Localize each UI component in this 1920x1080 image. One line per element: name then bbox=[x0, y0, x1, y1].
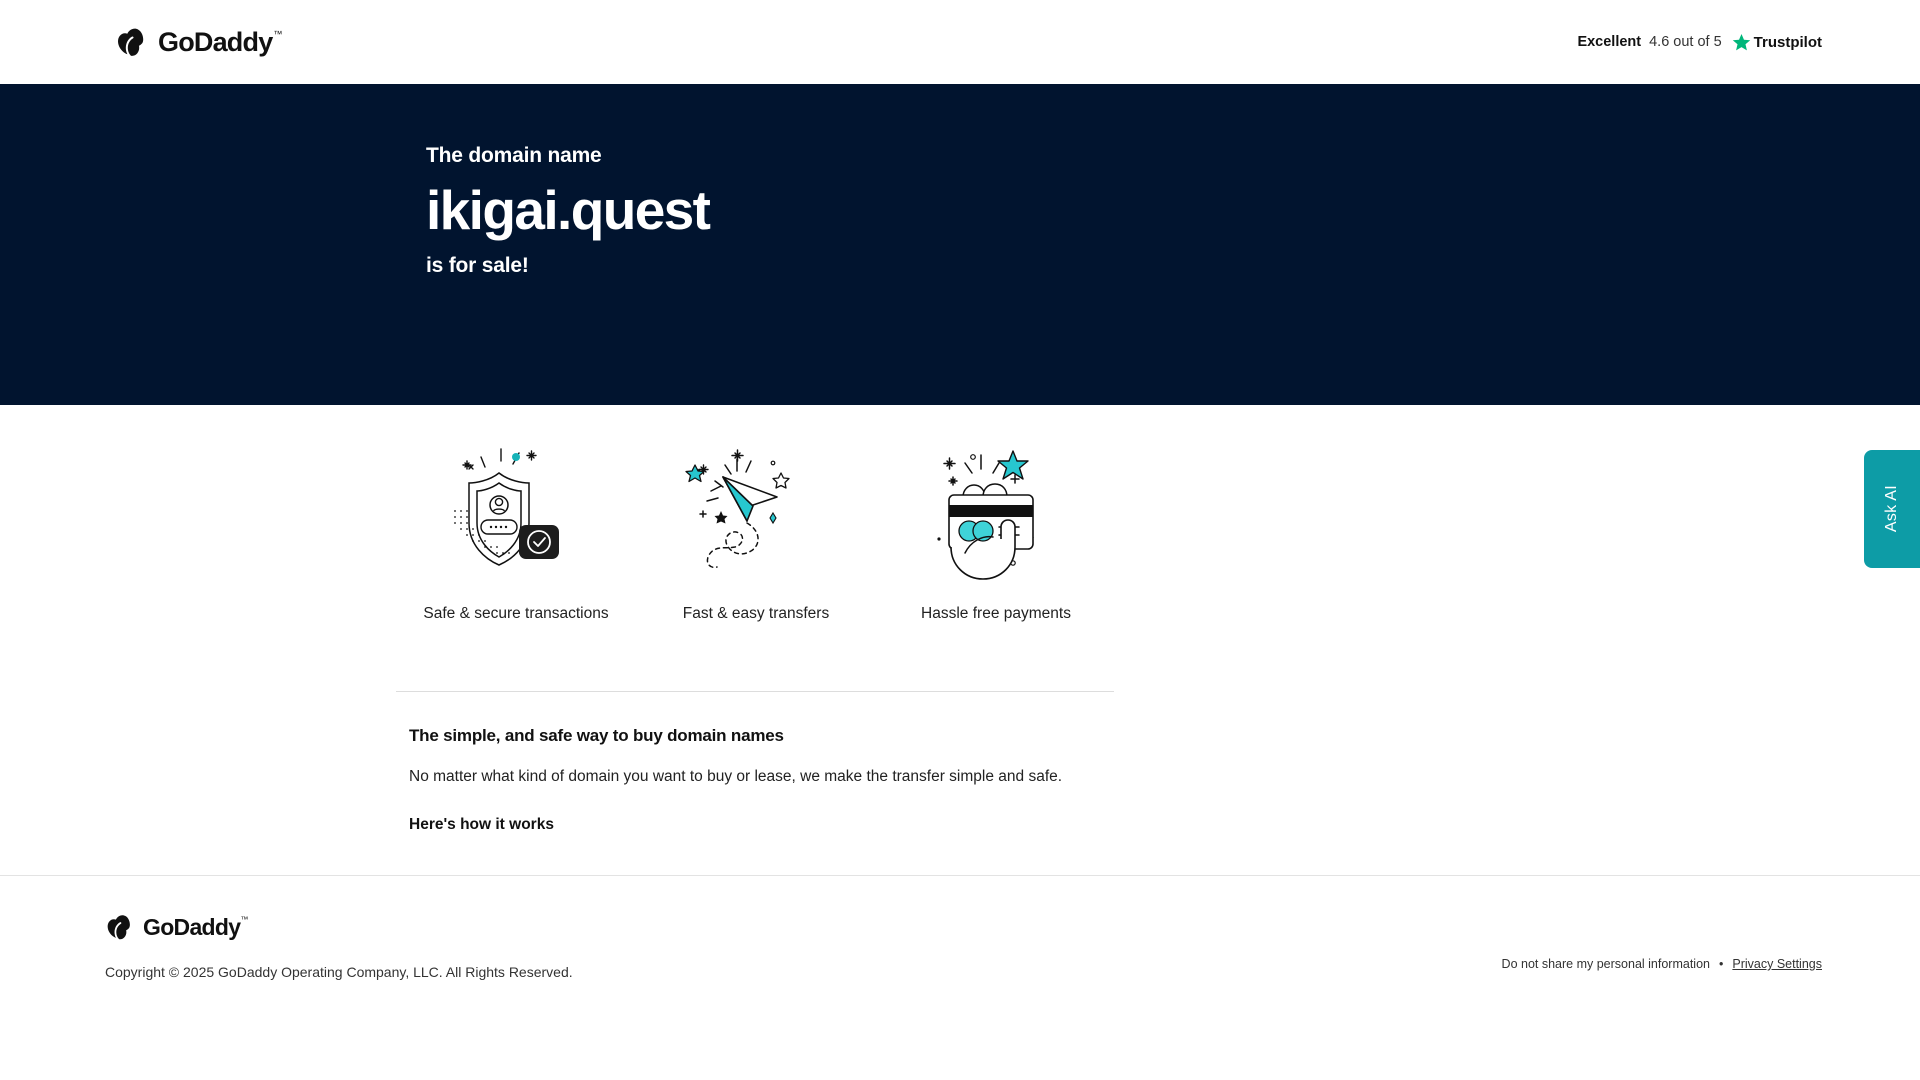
shield-user-verified-icon bbox=[441, 435, 591, 580]
do-not-share-link[interactable]: Do not share my personal information bbox=[1502, 957, 1710, 971]
feature-item: Fast & easy transfers bbox=[636, 435, 876, 623]
page-footer: GoDaddy™ Copyright © 2025 GoDaddy Operat… bbox=[0, 875, 1920, 1080]
footer-godaddy-logo[interactable]: GoDaddy™ bbox=[105, 912, 1822, 942]
privacy-settings-link[interactable]: Privacy Settings bbox=[1732, 957, 1822, 971]
godaddy-wordmark: GoDaddy™ bbox=[158, 29, 281, 56]
trustpilot-star-icon bbox=[1732, 33, 1751, 52]
copy-body: No matter what kind of domain you want t… bbox=[409, 768, 1920, 786]
trustpilot-brand: Trustpilot bbox=[1754, 34, 1822, 51]
feature-item: Hassle free payments bbox=[876, 435, 1116, 623]
footer-links: Do not share my personal information • P… bbox=[1502, 957, 1822, 971]
info-copy-block: The simple, and safe way to buy domain n… bbox=[0, 692, 1920, 834]
hero-banner: The domain name ikigai.quest is for sale… bbox=[0, 84, 1920, 405]
copy-heading: The simple, and safe way to buy domain n… bbox=[409, 726, 1920, 746]
page-header: GoDaddy™ Excellent 4.6 out of 5 Trustpil… bbox=[0, 0, 1920, 84]
feature-label: Hassle free payments bbox=[921, 605, 1071, 623]
footer-godaddy-heart-mark bbox=[105, 912, 135, 942]
godaddy-logo[interactable]: GoDaddy™ bbox=[115, 25, 281, 59]
trustpilot-rating[interactable]: Excellent 4.6 out of 5 Trustpilot bbox=[1577, 33, 1822, 52]
footer-godaddy-wordmark: GoDaddy™ bbox=[143, 916, 248, 939]
paper-plane-icon bbox=[681, 435, 831, 580]
how-it-works-heading: Here's how it works bbox=[409, 816, 1920, 834]
ask-ai-label: Ask AI bbox=[1883, 485, 1901, 532]
feature-list: Safe & secure transactions bbox=[0, 405, 1920, 623]
hero-eyebrow: The domain name bbox=[426, 144, 1920, 168]
hand-credit-card-icon bbox=[921, 435, 1071, 580]
feature-item: Safe & secure transactions bbox=[396, 435, 636, 623]
trustpilot-score: 4.6 out of 5 bbox=[1649, 34, 1722, 50]
hero-for-sale-text: is for sale! bbox=[426, 254, 1920, 278]
feature-label: Fast & easy transfers bbox=[683, 605, 829, 623]
main-content: Safe & secure transactions bbox=[0, 405, 1920, 875]
ask-ai-tab[interactable]: Ask AI bbox=[1864, 450, 1920, 568]
godaddy-heart-mark bbox=[115, 25, 149, 59]
trustpilot-rating-word: Excellent bbox=[1577, 34, 1641, 50]
feature-label: Safe & secure transactions bbox=[423, 605, 608, 623]
footer-link-separator: • bbox=[1719, 957, 1723, 971]
hero-domain-name: ikigai.quest bbox=[426, 182, 1920, 240]
